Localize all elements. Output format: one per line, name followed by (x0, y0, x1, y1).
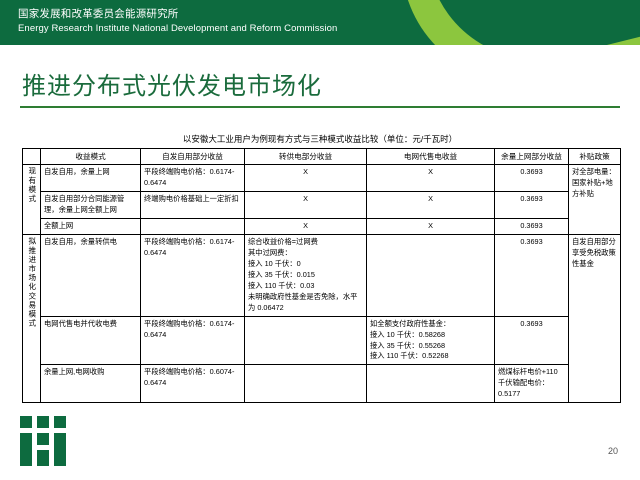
grid-sale-line: 接入 110 千伏：0.52268 (370, 351, 491, 362)
header-org-cn: 国家发展和改革委员会能源研究所 (18, 7, 337, 22)
cell-grid-sale (367, 365, 495, 403)
slide-header-band: 国家发展和改革委员会能源研究所 Energy Research Institut… (0, 0, 640, 45)
group-label-planned: 拟推进市场化交易模式 (23, 235, 41, 403)
cell-transfer: X (245, 192, 367, 219)
cell-surplus: 0.3693 (495, 316, 569, 365)
title-underline (20, 106, 620, 108)
cell-transfer (245, 365, 367, 403)
cell-transfer-detail: 综合收益价格=过网费 其中过网费： 接入 10 千伏：0 接入 35 千伏：0.… (245, 235, 367, 317)
header-grid-sale: 电网代售电收益 (367, 149, 495, 165)
cell-self-use (141, 219, 245, 235)
cell-grid-sale: X (367, 219, 495, 235)
cell-grid-sale-detail: 如全额支付政府性基金： 接入 10 千伏：0.58268 接入 35 千伏：0.… (367, 316, 495, 365)
table-row: 自发自用部分合同能源管理，余量上网全额上网 终端购电价格基础上一定折扣 X X … (23, 192, 621, 219)
transfer-line: 接入 110 千伏：0.03 (248, 281, 363, 292)
cell-self-use: 平段终端购电价格：0.6174-0.6474 (141, 235, 245, 317)
cell-self-use: 平段终端购电价格：0.6074-0.6474 (141, 365, 245, 403)
cell-mode: 自发自用部分合同能源管理，余量上网全额上网 (41, 192, 141, 219)
cell-mode: 自发自用，余量上网 (41, 165, 141, 192)
cell-surplus: 0.3693 (495, 165, 569, 192)
page-number: 20 (608, 446, 618, 456)
header-subsidy: 补贴政策 (569, 149, 621, 165)
cell-transfer: X (245, 165, 367, 192)
transfer-line: 接入 10 千伏：0 (248, 259, 363, 270)
page-title: 推进分布式光伏发电市场化 (22, 66, 322, 101)
header-group-corner (23, 149, 41, 165)
cell-transfer: X (245, 219, 367, 235)
cell-mode: 电网代售电并代收电费 (41, 316, 141, 365)
grid-sale-line: 接入 10 千伏：0.58268 (370, 330, 491, 341)
transfer-line: 其中过网费： (248, 248, 363, 259)
cell-mode: 余量上网,电网收购 (41, 365, 141, 403)
header-transfer: 转供电部分收益 (245, 149, 367, 165)
cell-subsidy-existing: 对全部电量：国家补贴+地方补贴 (569, 165, 621, 235)
grid-sale-line: 接入 35 千伏：0.55268 (370, 341, 491, 352)
cell-transfer (245, 316, 367, 365)
transfer-line: 未明确政府性基金是否免除，水平为 0.06472 (248, 292, 363, 314)
table-row: 余量上网,电网收购 平段终端购电价格：0.6074-0.6474 燃煤标杆电价+… (23, 365, 621, 403)
header-self-use: 自发自用部分收益 (141, 149, 245, 165)
cell-self-use: 平段终端购电价格：0.6174-0.6474 (141, 316, 245, 365)
surplus-line: 燃煤标杆电价+110 千伏输配电价：0.5177 (498, 367, 565, 400)
header-org-block: 国家发展和改革委员会能源研究所 Energy Research Institut… (18, 7, 337, 36)
transfer-line: 综合收益价格=过网费 (248, 237, 363, 248)
cell-grid-sale (367, 235, 495, 317)
table-row: 电网代售电并代收电费 平段终端购电价格：0.6174-0.6474 如全额支付政… (23, 316, 621, 365)
cell-mode-fullgrid: 全额上网 (41, 219, 141, 235)
cell-mode: 自发自用，余量转供电 (41, 235, 141, 317)
group-label-existing: 现有模式 (23, 165, 41, 235)
header-mode: 收益模式 (41, 149, 141, 165)
cell-subsidy-planned: 自发自用部分享受免税政策性基金 (569, 235, 621, 403)
table-row: 全额上网 X X 0.3693 (23, 219, 621, 235)
header-surplus: 余量上网部分收益 (495, 149, 569, 165)
comparison-table: 收益模式 自发自用部分收益 转供电部分收益 电网代售电收益 余量上网部分收益 补… (22, 148, 621, 403)
table-row: 现有模式 自发自用，余量上网 平段终端购电价格：0.6174-0.6474 X … (23, 165, 621, 192)
cell-surplus: 0.3693 (495, 235, 569, 317)
table-row: 拟推进市场化交易模式 自发自用，余量转供电 平段终端购电价格：0.6174-0.… (23, 235, 621, 317)
cell-surplus-detail: 燃煤标杆电价+110 千伏输配电价：0.5177 (495, 365, 569, 403)
header-org-en: Energy Research Institute National Devel… (18, 22, 337, 36)
cell-surplus: 0.3693 (495, 219, 569, 235)
cell-grid-sale: X (367, 165, 495, 192)
transfer-line: 接入 35 千伏：0.015 (248, 270, 363, 281)
table-caption: 以安徽大工业用户为例现有方式与三种模式收益比较（单位：元/千瓦时） (0, 133, 640, 145)
cell-self-use: 终端购电价格基础上一定折扣 (141, 192, 245, 219)
cell-surplus: 0.3693 (495, 192, 569, 219)
table-header-row: 收益模式 自发自用部分收益 转供电部分收益 电网代售电收益 余量上网部分收益 补… (23, 149, 621, 165)
cell-self-use: 平段终端购电价格：0.6174-0.6474 (141, 165, 245, 192)
cell-grid-sale: X (367, 192, 495, 219)
eri-logo (20, 416, 66, 466)
grid-sale-line: 如全额支付政府性基金： (370, 319, 491, 330)
comparison-table-wrapper: 收益模式 自发自用部分收益 转供电部分收益 电网代售电收益 余量上网部分收益 补… (22, 148, 620, 403)
